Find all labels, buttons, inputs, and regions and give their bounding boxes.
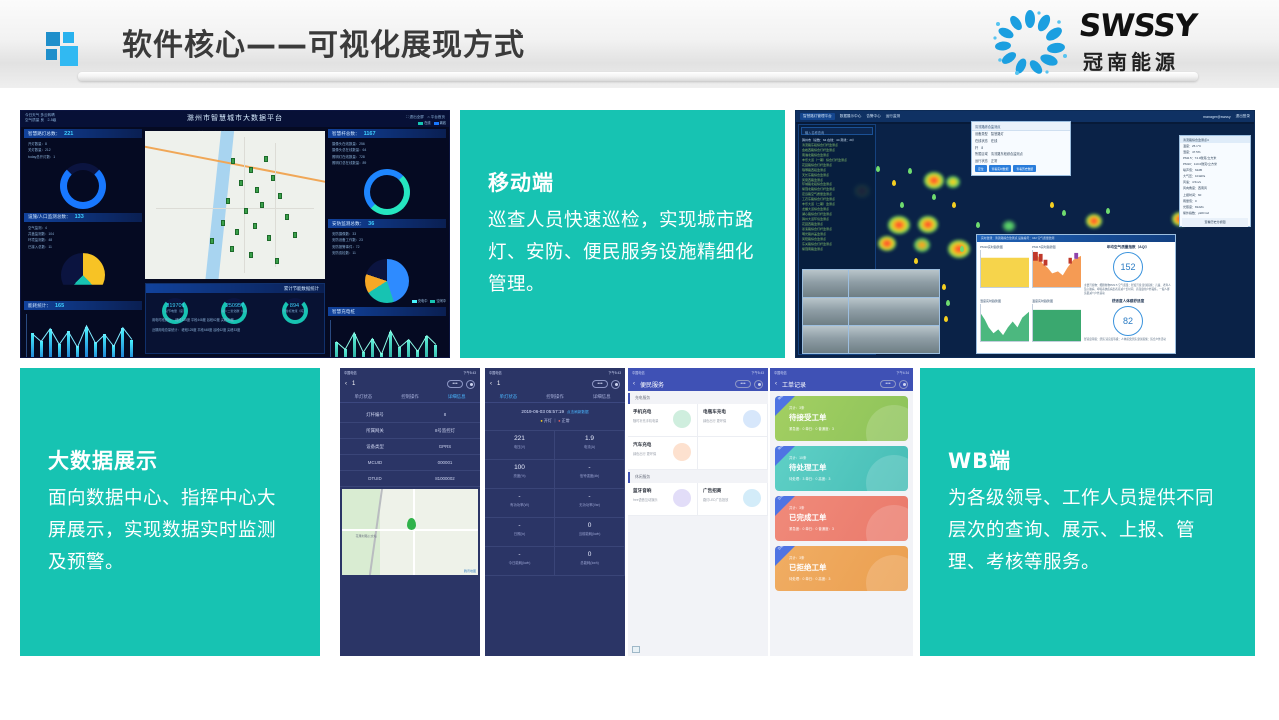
popup-btn-realtime[interactable]: 查看实时数据 (989, 165, 1012, 172)
aqi-description: 主要污染物：细颗粒物PM2.5 空气质量：轻度污染 建议措施：儿童、老年人及心脏… (1084, 284, 1172, 296)
work-order-card-done[interactable]: 已完成 共计：3条 已完成工单 紧急度：0 单日：0 普通度：3 (775, 496, 908, 541)
metric-cell: 1.9电流(A) (555, 431, 625, 460)
metric-cell: -有功功率(W) (485, 489, 555, 518)
popup-row-3: 杆 8 (972, 145, 1070, 152)
chart-humidity: 湿度实时趋势图 (980, 299, 1029, 347)
phone-timestamp: 2019-06-03 05:57:19点击刷新数据 (485, 403, 625, 418)
donut-ring-pole (364, 169, 410, 215)
detail-row: DTUID81000002 (340, 471, 480, 487)
card-header-charging: 智慧充电桩 充电中空闲中 (328, 307, 446, 316)
phone-statusbar: 中国电信下午5:43 (628, 368, 768, 377)
nav-item-platform[interactable]: 智慧路灯管理平台 (800, 113, 835, 120)
panel-web-heading: WB端 (948, 445, 1227, 475)
popup-btn-locate[interactable]: 定位 (975, 165, 987, 172)
gis-search-input[interactable]: 输入名称查询 (801, 127, 873, 135)
phone-metrics-grid: 221电压(V) 1.9电流(A) 100亮度(%) -信号强度(db) -有功… (485, 431, 625, 576)
panel-mobile-client: 移动端 巡查人员快速巡检，实现城市路灯、安防、便民服务设施精细化管理。 (460, 110, 785, 358)
panel-bigdata-body: 面向数据中心、指挥中心大屏展示，实现数据实时监测及预警。 (48, 483, 292, 578)
gis-camera-grid[interactable] (802, 269, 940, 354)
camera-tile[interactable] (849, 326, 894, 353)
metrics-row: 319701总节电量（度） 250957减少二氧化碳（kg） 894节省标准煤（… (146, 293, 324, 313)
service-item[interactable]: 蓝牙音响free语音互动娱乐 (628, 483, 698, 516)
sensor-panel-title: 清流路综合监测点4 (1180, 136, 1250, 143)
comfort-value: 82 (1113, 306, 1143, 336)
service-grid-charging[interactable]: 手机充电随时补充手机电量 电瓶车充电绿色出行 更环保 汽车充电绿色出行 更环保 (628, 404, 768, 470)
work-order-card-accept[interactable]: 待接受 共计：3条 待接受工单 紧急度：0 单日：0 普通度：3 (775, 396, 908, 441)
back-icon[interactable]: ‹ (345, 381, 347, 387)
dashboard-weather: 今日天气 多云转晴空气质量 良 2-5级 (25, 113, 56, 124)
detail-row: 灯杆编号8 (340, 407, 480, 423)
target-icon[interactable] (466, 380, 475, 389)
aqi-block: 年均空气质量指数（AQI） 152 主要污染物：细颗粒物PM2.5 空气质量：轻… (1084, 245, 1172, 296)
phone-location-map[interactable]: 花果村路公交站 腾讯地图 (342, 489, 478, 575)
popup-row-1: 设备类型 智慧路灯 (972, 131, 1070, 138)
camera-tile[interactable] (803, 298, 848, 325)
popup-title: 清流路综合监测点 (972, 122, 1070, 131)
tab-detail[interactable]: 详细信息 (433, 391, 480, 402)
chart-pm10: PM10实时趋势图 (980, 245, 1029, 293)
service-grid-leisure[interactable]: 蓝牙音响free语音互动娱乐 广告招商路灯LED广告投放 (628, 483, 768, 516)
panel-mobile-body: 巡查人员快速巡检，实现城市路灯、安防、便民服务设施精细化管理。 (488, 205, 757, 300)
metric-cell: -今日能耗(kwh) (485, 547, 555, 576)
card-rows-lamp: 开灯数量：8关灯数量：212today总开灯数：1 (24, 138, 142, 160)
aqi-value: 152 (1113, 252, 1143, 282)
car-charge-icon (673, 443, 691, 461)
page-header: 软件核心——可视化展现方式 SW (0, 0, 1279, 88)
metric-cell: -日照(lx) (485, 518, 555, 547)
more-icon[interactable]: ••• (447, 380, 463, 388)
service-item[interactable]: 手机充电随时补充手机电量 (628, 404, 698, 437)
chart-temperature: 温度实时趋势图 (1032, 299, 1081, 347)
phone-title: 1 (497, 381, 500, 387)
tab-lamp-status[interactable]: 单灯状态 (340, 391, 387, 402)
card-header-pole-total: 智慧杆总数： 1167 在线离线 (328, 129, 446, 138)
nav-item-alarm-center[interactable]: 告警中心 (866, 114, 880, 119)
screenshot-phone-work-orders: 中国电信下午4:34 ‹ 工单记录 ••• 待接受 共计：3条 待接受工单 紧急… (770, 368, 913, 656)
camera-tile[interactable] (894, 298, 939, 325)
legend: 充电中空闲中 (412, 298, 446, 303)
metric-cell: 100亮度(%) (485, 460, 555, 489)
screenshot-phone-lamp-detail: 中国电信下午5:43 ‹ 1 ••• 单灯状态 控制操作 详细信息 灯杆编号8 … (340, 368, 480, 656)
panel-bigdata-heading: 大数据展示 (48, 445, 292, 475)
target-icon[interactable] (611, 380, 620, 389)
panel-title: 累计节能数据统计 (146, 284, 324, 293)
work-order-card-rejected[interactable]: 已拒绝 共计：3条 已拒绝工单 待处理：0 单日：0 高度：3 (775, 546, 908, 591)
popup-row-5: 运行状态 正常 (972, 158, 1070, 165)
camera-tile[interactable] (803, 326, 848, 353)
decorative-squares (46, 32, 82, 68)
camera-tile[interactable] (894, 326, 939, 353)
ebike-charge-icon (743, 410, 761, 428)
tab-control[interactable]: 控制操作 (532, 391, 579, 402)
phone-state-row: ● 开灯 ｜ ● 正常 (485, 418, 625, 431)
service-item[interactable]: 广告招商路灯LED广告投放 (698, 483, 768, 516)
dashboard-left-column: 智慧路灯总数： 221 开灯状态关灯状态 开灯数量：8关灯数量：212today… (24, 129, 142, 355)
popup-btn-history[interactable]: 查看历史数据 (1013, 165, 1036, 172)
card-rows-security: 安防摄像数：33安防设备工作数：23安防报警事件：72安防巡检数：11 (328, 228, 446, 256)
phone-appbar: ‹ 1 ••• (485, 377, 625, 391)
metric-cell: -无功功率(Var) (555, 489, 625, 518)
logo-subtitle: 冠南能源 (1083, 46, 1179, 75)
card-rows-pole: 摄像头在线数量：256摄像头总在线数量：64照明灯在线数量：728照明灯总在线数… (328, 138, 446, 166)
panel-bigdata-display: 大数据展示 面向数据中心、指挥中心大屏展示，实现数据实时监测及预警。 (20, 368, 320, 656)
pie-chart-security (365, 259, 409, 303)
panel-web-client: WB端 为各级领导、工作人员提供不同层次的查询、展示、上报、管理、考核等服务。 (920, 368, 1255, 656)
detail-row: MCUID000001 (340, 455, 480, 471)
more-icon[interactable]: ••• (592, 380, 608, 388)
metric-cell: -信号强度(db) (555, 460, 625, 489)
screenshot-bigdata-dashboard: 滁州市智慧城市大数据平台 今日天气 多云转晴空气质量 良 2-5级 ⛶ 退出全屏… (20, 110, 450, 358)
target-icon[interactable] (899, 380, 908, 389)
phone-statusbar: 中国电信下午4:34 (770, 368, 913, 377)
gis-charts-window: 实时监测：清流路综合监测点 设备编号：162 空气质量监测 PM10实时趋势图 … (976, 234, 1176, 354)
company-logo: SWSSY 冠南能源 (987, 6, 1227, 78)
service-item[interactable]: 电瓶车充电绿色出行 更环保 (698, 404, 768, 437)
section-header-charging: 充电服务 (628, 393, 768, 404)
gis-map-popup[interactable]: 清流路综合监测点 设备类型 智慧路灯 在线状态 在线 杆 8 所属区域 清流路东… (971, 121, 1071, 176)
service-item[interactable]: 汽车充电绿色出行 更环保 (628, 437, 698, 470)
camera-tile[interactable] (849, 270, 894, 297)
panel-web-body: 为各级领导、工作人员提供不同层次的查询、展示、上报、管理、考核等服务。 (948, 483, 1227, 578)
nav-item-data-center[interactable]: 数据展示中心 (840, 114, 862, 119)
charts-window-title: 实时监测：清流路综合监测点 设备编号：162 空气质量监测 (977, 235, 1175, 242)
tab-control[interactable]: 控制操作 (387, 391, 434, 402)
phone-charge-icon (673, 410, 691, 428)
sensor-history-button[interactable]: 查看历史分析图 (1182, 218, 1248, 227)
target-icon[interactable] (754, 380, 763, 389)
camera-tile[interactable] (849, 298, 894, 325)
dashboard-energy-saving-panel: 累计节能数据统计 319701总节电量（度） 250957减少二氧化碳（kg） … (145, 283, 325, 354)
card-header-security: 安防监测总数： 36 (328, 219, 446, 228)
screenshot-gis-platform: 智慧路灯管理平台 数据展示中心 告警中心 运行监测 manager@swssy … (795, 110, 1255, 358)
card-rows-facility: 空气监测：4井盖监测数：104环境监测数：48已接入总数：11 (24, 222, 142, 250)
nav-logout[interactable]: 退出登录 (1236, 114, 1250, 119)
camera-tile[interactable] (894, 270, 939, 297)
card-header-lamp-total: 智慧路灯总数： 221 开灯状态关灯状态 (24, 129, 142, 138)
phone-title: 工单记录 (782, 380, 806, 389)
work-order-card-pending[interactable]: 待处理 共计：10条 待处理工单 待处理：3 单日：0 高度：3 (775, 446, 908, 491)
dashboard-right-column: 智慧杆总数： 1167 在线离线 摄像头在线数量：256摄像头总在线数量：64照… (328, 129, 446, 355)
phone-appbar: ‹ 1 ••• (340, 377, 480, 391)
bar-line-chart-energy (26, 314, 140, 358)
popup-buttons[interactable]: 定位 查看实时数据 查看历史数据 (975, 165, 1036, 172)
gis-sensor-panel[interactable]: 清流路综合监测点4 温度：25.1°C 湿度：47.5% PM2.5：74.0微… (1179, 135, 1251, 227)
bar-line-chart-charging (330, 320, 444, 358)
metric-cell: 0总能耗(kwh) (555, 547, 625, 576)
dashboard-topbar: 滁州市智慧城市大数据平台 今日天气 多云转晴空气质量 良 2-5级 ⛶ 退出全屏… (21, 111, 449, 127)
tab-lamp-status[interactable]: 单灯状态 (485, 391, 532, 402)
detail-row: 所属网关8号监控灯 (340, 423, 480, 439)
panel-row-2: 近期用电总量统计： 峰段125度 平段448度 谷段62度 尖峰33度 (146, 323, 324, 333)
metric-cell: 221电压(V) (485, 431, 555, 460)
comfort-block: 舒适度人体感舒适度 82 舒适度等级：舒适 适宜度等级：人体感觉舒适 建议措施：… (1084, 299, 1172, 347)
gis-site-tree[interactable]: 滁州市（总数：64 在线：44 离线：20） 清流路东段综合灯杆监测点会峰西路综… (799, 137, 875, 253)
back-icon[interactable]: ‹ (633, 381, 635, 387)
tab-detail[interactable]: 详细信息 (578, 391, 625, 402)
dashboard-city-map[interactable] (145, 131, 325, 279)
more-icon[interactable]: ••• (735, 380, 751, 388)
service-item-empty (698, 437, 768, 470)
panel-mobile-heading: 移动端 (488, 167, 757, 197)
legend: 在线离线 (418, 120, 446, 125)
popup-row-4: 所属区域 清流路东段综合监测点 (972, 151, 1070, 158)
screenshot-phone-lamp-status: 中国电信下午5:43 ‹ 1 ••• 单灯状态 控制操作 详细信息 2019-0… (485, 368, 625, 656)
page-title: 软件核心——可视化展现方式 (122, 20, 525, 64)
section-header-leisure: 休闲服务 (628, 472, 768, 483)
more-icon[interactable]: ••• (880, 380, 896, 388)
back-icon[interactable]: ‹ (775, 381, 777, 387)
detail-row: 设备类型GPRS (340, 439, 480, 455)
nav-item-monitor[interactable]: 运行监测 (886, 114, 900, 119)
phone-statusbar: 中国电信下午5:43 (340, 368, 480, 377)
home-indicator-icon (632, 646, 640, 653)
screenshot-phone-public-service: 中国电信下午5:43 ‹ 便民服务 ••• 充电服务 手机充电随时补充手机电量 … (628, 368, 768, 656)
bluetooth-speaker-icon (673, 489, 691, 507)
popup-row-2: 在线状态 在线 (972, 138, 1070, 145)
chart-pm25: PM2.5实时趋势图 (1032, 245, 1081, 293)
dashboard-title: 滁州市智慧城市大数据平台 (21, 113, 449, 123)
phone-title: 便民服务 (640, 380, 664, 389)
comfort-description: 舒适度等级：舒适 适宜度等级：人体感觉舒适 建议措施：适合户外活动 (1084, 338, 1172, 342)
phone-appbar: ‹ 工单记录 ••• (770, 377, 913, 391)
donut-ring-lamp (60, 163, 106, 209)
refresh-link[interactable]: 点击刷新数据 (567, 410, 589, 414)
phone-statusbar: 中国电信下午5:43 (485, 368, 625, 377)
camera-tile[interactable] (803, 270, 848, 297)
card-header-facility: 设施/人口监测总数： 133 正常离线故障告警 (24, 213, 142, 222)
back-icon[interactable]: ‹ (490, 381, 492, 387)
water-droplet-flower-logo-icon (987, 8, 1073, 76)
phone-tabs[interactable]: 单灯状态 控制操作 详细信息 (485, 391, 625, 403)
ad-board-icon (743, 489, 761, 507)
nav-user[interactable]: manager@swssy (1203, 115, 1231, 119)
pie-chart-facility (61, 253, 105, 297)
phone-tabs[interactable]: 单灯状态 控制操作 详细信息 (340, 391, 480, 403)
card-header-energy: 能耗统计： 165 ◆总耗能峰值功率 (24, 301, 142, 310)
phone-appbar: ‹ 便民服务 ••• (628, 377, 768, 391)
metric-cell: 0当前能耗(kwh) (555, 518, 625, 547)
logo-wordmark: SWSSY (1077, 8, 1198, 44)
phone-title: 1 (352, 381, 355, 387)
